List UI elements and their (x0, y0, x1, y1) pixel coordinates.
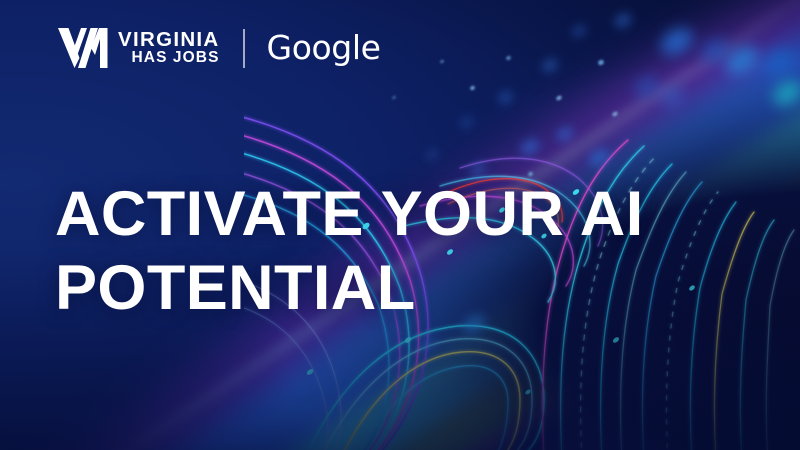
wordmark-line-virginia: VIRGINIA (118, 30, 220, 49)
headline-line-2: POTENTIAL (55, 251, 644, 325)
google-wordmark: Google (267, 31, 381, 64)
logo-lockup: VIRGINIA HAS JOBS Google (57, 25, 381, 71)
lockup-divider (243, 29, 245, 68)
slide-canvas: VIRGINIA HAS JOBS Google ACTIVATE YOUR A… (0, 0, 800, 450)
virginia-has-jobs-wordmark: VIRGINIA HAS JOBS (118, 27, 220, 69)
headline-line-1: ACTIVATE YOUR AI (55, 177, 644, 251)
wordmark-line-has-jobs: HAS JOBS (118, 49, 220, 66)
va-monogram-icon (57, 27, 109, 69)
page-title: ACTIVATE YOUR AI POTENTIAL (55, 177, 644, 325)
